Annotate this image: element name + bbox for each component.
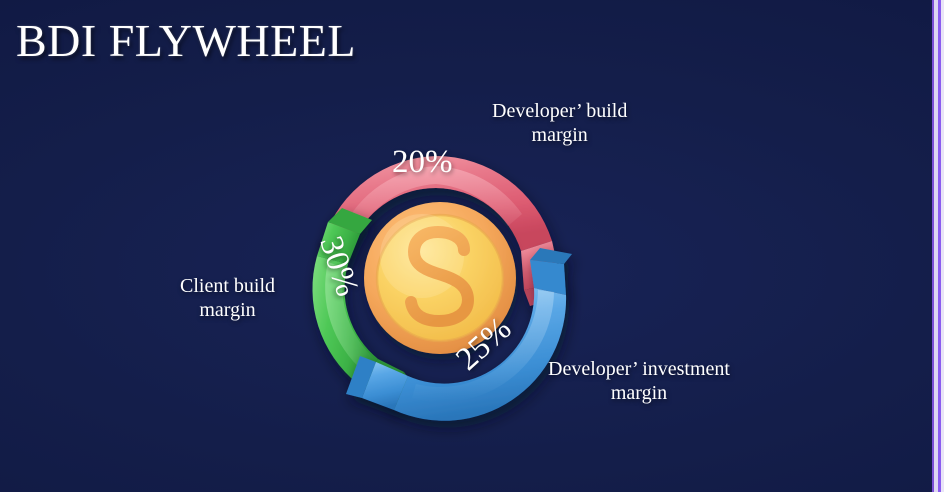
- label-line-1: Client build: [180, 275, 275, 299]
- label-developer-build-margin: Developer’ build margin: [492, 100, 627, 147]
- edge-accent-strip: [930, 0, 944, 492]
- label-line-2: margin: [492, 124, 627, 148]
- slide-canvas: BDI FLYWHEEL: [0, 0, 944, 492]
- label-developer-investment-margin: Developer’ investment margin: [548, 358, 730, 405]
- page-title: BDI FLYWHEEL: [16, 18, 356, 64]
- label-client-build-margin: Client build margin: [180, 275, 275, 322]
- dollar-coin-icon: [364, 202, 516, 354]
- label-line-2: margin: [548, 382, 730, 406]
- label-line-1: Developer’ build: [492, 100, 627, 124]
- label-line-1: Developer’ investment: [548, 358, 730, 382]
- label-line-2: margin: [180, 299, 275, 323]
